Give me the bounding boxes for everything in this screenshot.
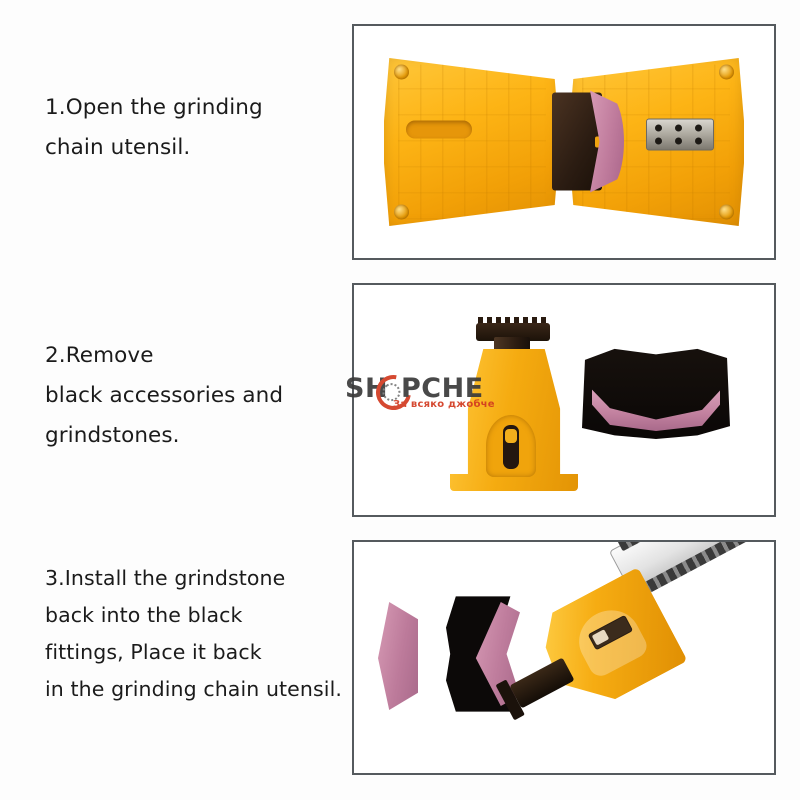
bolt-post-bottom-left [394, 205, 409, 220]
clamp-hole [655, 138, 662, 145]
step-2-text: 2.Remove black accessories and grindston… [45, 336, 283, 456]
sharpener-body [450, 311, 578, 491]
release-tab [503, 425, 519, 469]
panel-1-image [354, 26, 774, 258]
photo-panel-1 [352, 24, 776, 260]
removed-fitting-with-stone [582, 347, 730, 439]
bolt-post-top-right [719, 65, 734, 80]
mounted-sharpener [528, 567, 687, 719]
panel-3-image [354, 542, 774, 773]
chainsaw-assembly [512, 540, 776, 766]
base-recess [486, 415, 536, 477]
open-sharpener-illustration [384, 55, 744, 230]
bolt-post-bottom-right [719, 205, 734, 220]
bolt-post-top-left [394, 65, 409, 80]
step-3-text: 3.Install the grindstone back into the b… [45, 560, 342, 708]
clamp-hole [695, 125, 702, 132]
step-1-text: 1.Open the grinding chain utensil. [45, 88, 263, 168]
clamp-hole [695, 138, 702, 145]
metal-clamp-plate [646, 119, 714, 151]
left-wing-slot [406, 121, 472, 139]
panel-2-image [354, 285, 774, 515]
photo-panel-3 [352, 540, 776, 775]
instruction-sheet: 1.Open the grinding chain utensil. 2.Rem… [0, 0, 800, 800]
clamp-hole [675, 138, 682, 145]
photo-panel-2 [352, 283, 776, 517]
black-stud-post [509, 657, 574, 708]
instruction-steps-column: 1.Open the grinding chain utensil. 2.Rem… [0, 0, 352, 800]
sharpener-left-wing [384, 55, 560, 230]
loose-pink-grindstone [378, 602, 418, 710]
left-wing-ribbing [398, 65, 546, 220]
clamp-hole [655, 125, 662, 132]
clamp-hole [675, 125, 682, 132]
